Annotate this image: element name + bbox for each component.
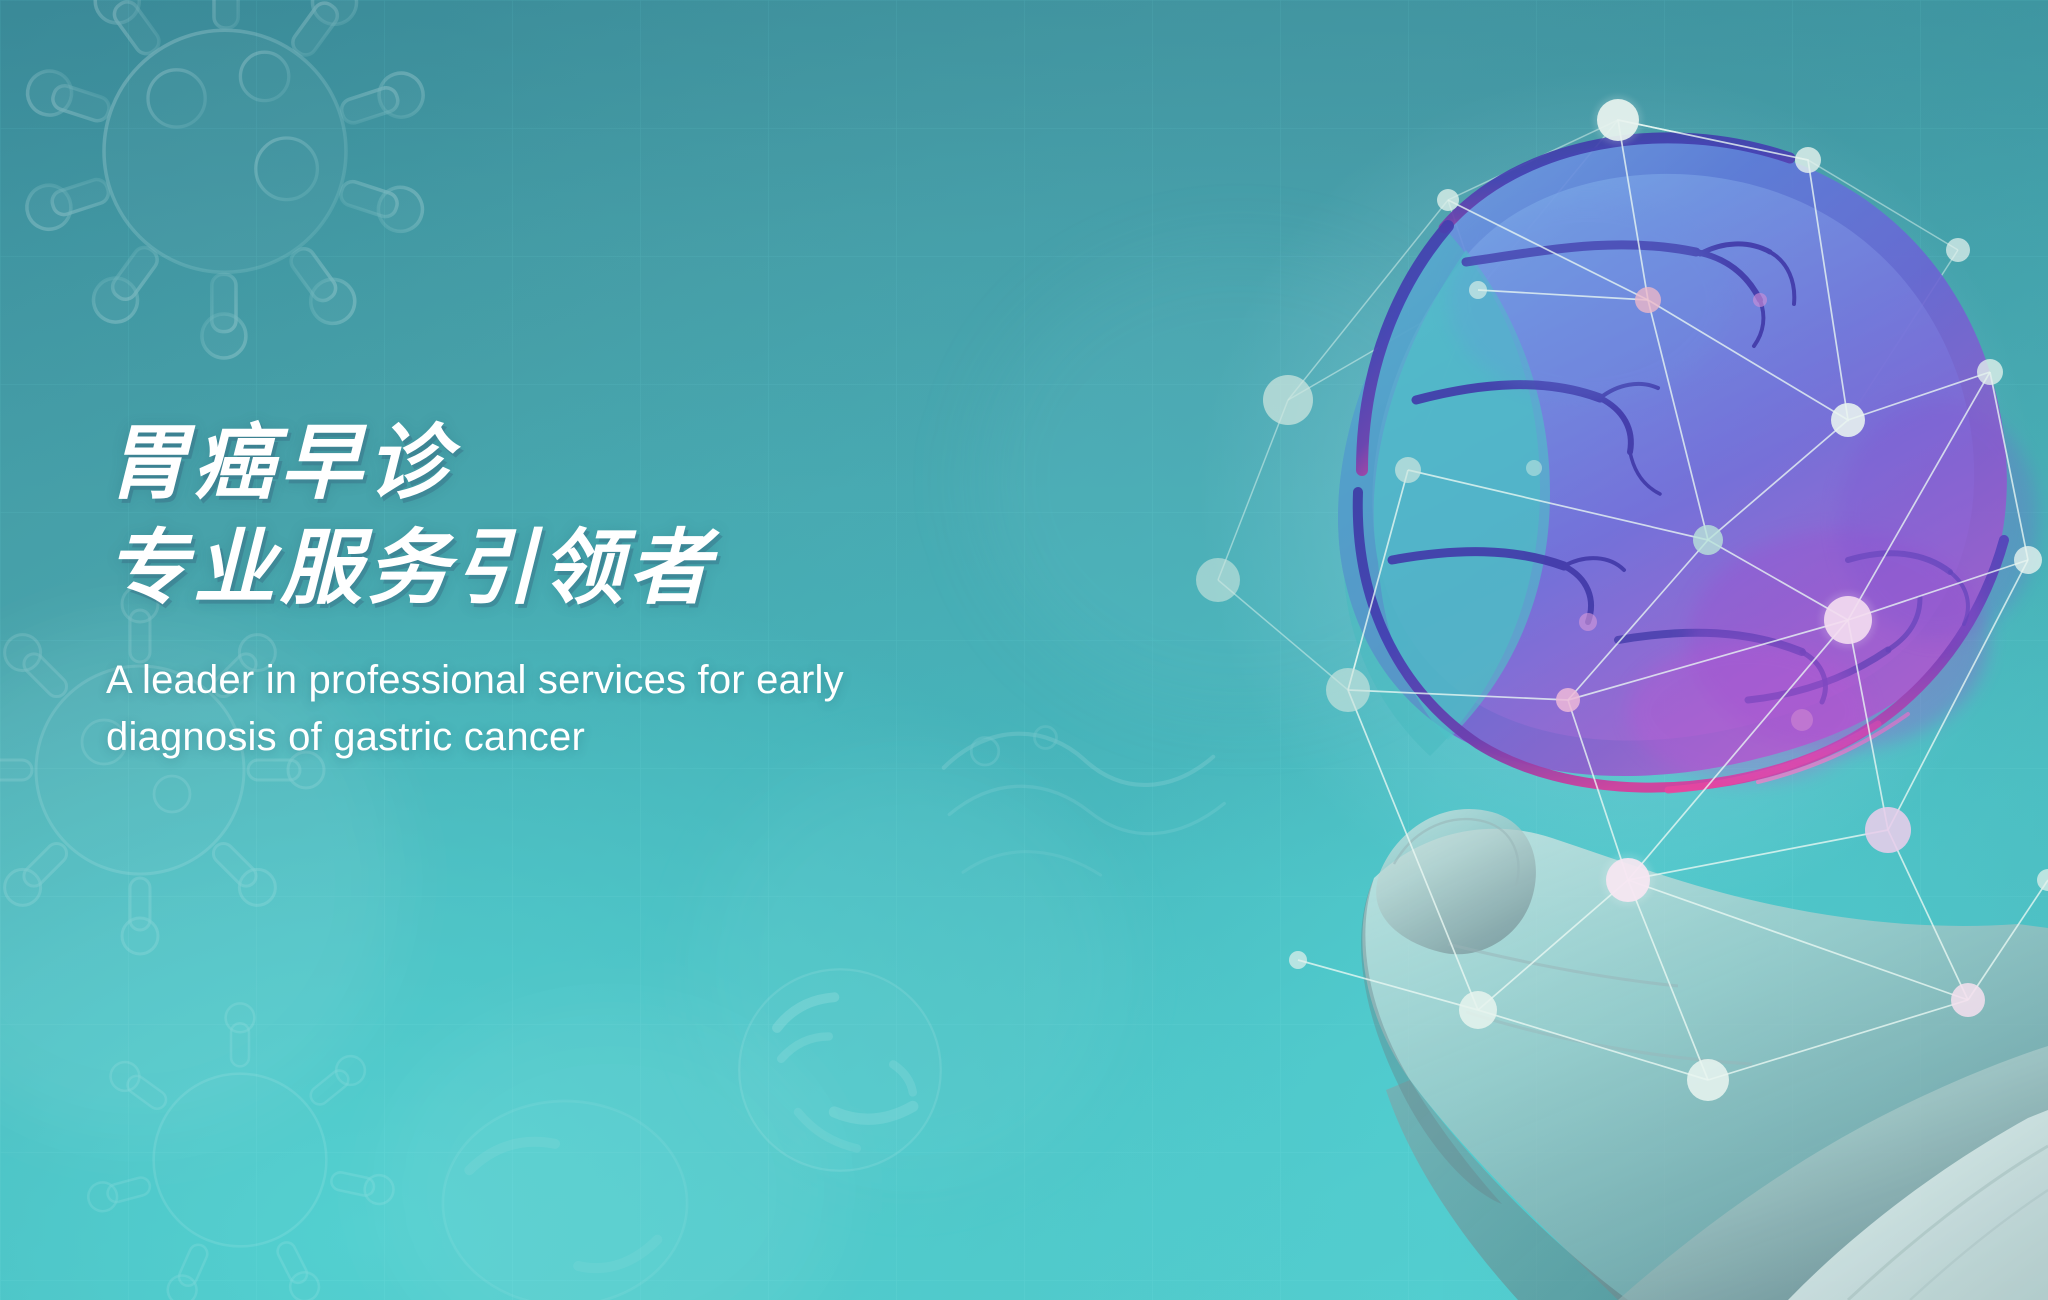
hero-banner: 胃癌早诊 专业服务引领者 A leader in professional se… [0,0,2048,1300]
headline-line-1: 胃癌早诊 [106,412,844,517]
page-subtitle: A leader in professional services for ea… [106,652,844,766]
page-title: 胃癌早诊 专业服务引领者 [106,412,844,622]
subheadline-line-2: diagnosis of gastric cancer [106,709,844,766]
hand-holding-network-stomach-illustration [1148,0,2048,1300]
hero-copy-block: 胃癌早诊 专业服务引领者 A leader in professional se… [106,412,844,766]
subheadline-line-1: A leader in professional services for ea… [106,652,844,709]
headline-line-2: 专业服务引领者 [106,517,844,622]
